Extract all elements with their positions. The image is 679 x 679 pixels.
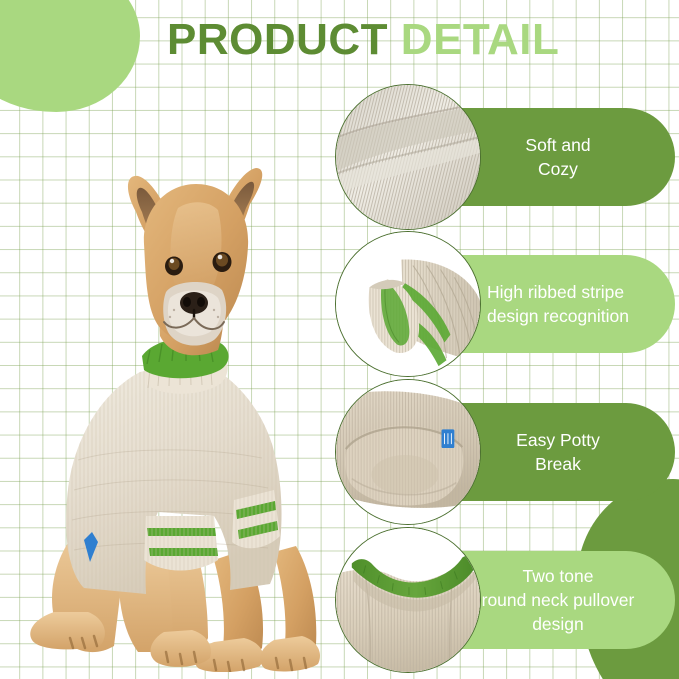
feature-photo-striped-collar-closeup — [335, 231, 481, 377]
feature-label: Two tone round neck pullover design — [482, 564, 635, 636]
striped-collar-closeup-illustration — [336, 232, 480, 376]
feature-row-easy-potty-break: Easy Potty Break — [335, 379, 679, 525]
knit-fabric-closeup-illustration — [336, 85, 480, 229]
round-neck-closeup-illustration — [336, 528, 480, 672]
feature-label: Easy Potty Break — [516, 428, 600, 476]
page-title-secondary: DETAIL — [401, 15, 560, 64]
page-title: PRODUCT DETAIL — [167, 14, 559, 66]
feature-label: Soft and Cozy — [525, 133, 590, 181]
page-title-primary: PRODUCT — [167, 15, 388, 64]
feature-photo-knit-fabric-closeup — [335, 84, 481, 230]
feature-photo-round-neck-closeup — [335, 527, 481, 673]
dog-wearing-sweater-illustration — [18, 160, 330, 672]
feature-photo-rear-opening-closeup — [335, 379, 481, 525]
feature-row-two-tone-round-neck: Two tone round neck pullover design — [335, 527, 679, 673]
infographic-page: PRODUCT DETAIL — [0, 0, 679, 679]
feature-label: High ribbed stripe design recognition — [487, 280, 629, 328]
feature-row-soft-and-cozy: Soft and Cozy — [335, 84, 679, 230]
brand-tag-icon — [442, 429, 455, 448]
product-hero-photo — [18, 160, 330, 672]
rear-opening-closeup-illustration — [336, 380, 480, 524]
decorative-blob-top-left — [0, 0, 140, 112]
feature-row-high-ribbed-stripe: High ribbed stripe design recognition — [335, 231, 679, 377]
